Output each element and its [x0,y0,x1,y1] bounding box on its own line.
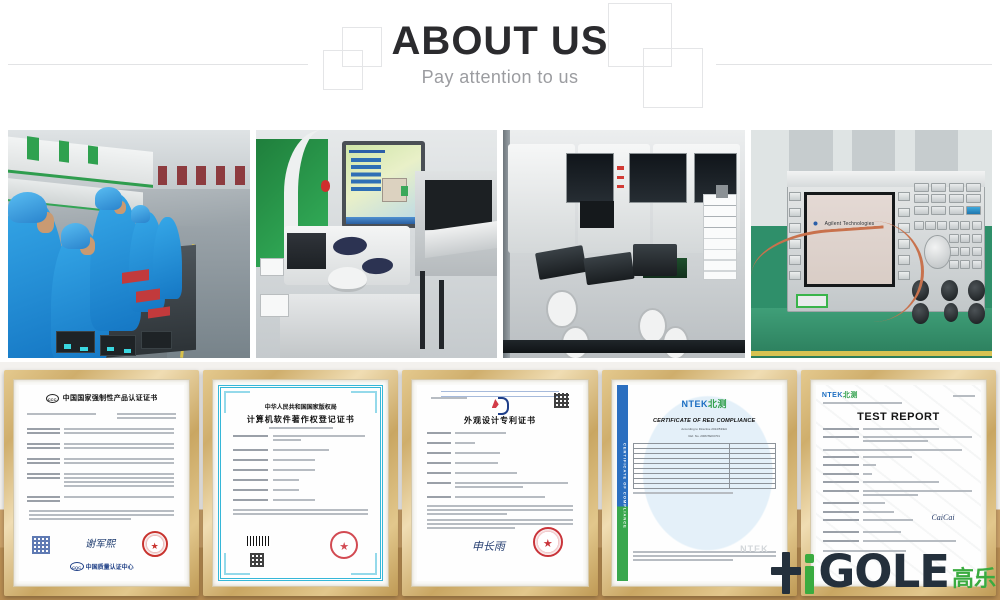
cnipa-logo-icon [492,397,508,411]
ntek-directive: According to Directive 2014/53/EU [633,427,776,431]
photo-assembly-line[interactable]: Workers in blue anti-static suits and ca… [8,130,250,358]
photo-smt-inspection-machine[interactable]: SMT AOI inspection machine with operator… [256,130,498,358]
ntek-certificate-title: CERTIFICATE OF RED COMPLIANCE [633,418,776,424]
patent-signature: 申长雨 [472,538,505,554]
page-title: ABOUT US [0,20,1000,62]
cqc-mark-icon: CQC [70,562,84,571]
factory-photo-gallery: Workers in blue anti-static suits and ca… [8,130,992,358]
qr-code-icon [554,393,569,408]
certificate-frame-ntek-red-compliance[interactable]: CERTIFICATE OF COMPLIANCE NTEK北测 CERTIFI… [602,370,797,596]
red-seal-icon [142,531,168,557]
page-header: ABOUT US Pay attention to us [0,0,1000,118]
qr-code-icon [32,536,50,554]
higole-h-mark-icon [771,552,801,594]
certificate-frame-software-copyright[interactable]: 中华人民共和国国家版权局 计算机软件著作权登记证书 [203,370,398,596]
ccc-badge-icon: CCC [46,394,59,403]
standards-table [633,443,776,489]
report-signature: CaiCai [931,513,954,522]
ntek-watermark: NTEK [740,544,769,554]
ccc-title: 中国国家强制性产品认证证书 [63,393,158,403]
higole-logo: GOLE 高乐 [771,549,996,594]
barcode-icon [247,536,271,546]
copyright-title: 计算机软件著作权登记证书 [221,414,380,425]
page-subtitle: Pay attention to us [0,67,1000,88]
higole-i-letter-icon [802,552,818,594]
certificate-sidebar-label: CERTIFICATE OF COMPLIANCE [617,385,628,581]
photo-pick-and-place-machines[interactable]: Row of SMT pick-and-place machines with … [503,130,745,358]
certificate-frame-ccc[interactable]: CCC 中国国家强制性产品认证证书 谢军熙 [4,370,199,596]
certificate-frame-design-patent[interactable]: 外观设计专利证书 申长雨 [402,370,597,596]
ntek-brand: NTEK [681,399,708,409]
ntek-brand-cn: 北测 [708,399,727,409]
higole-chinese-name: 高乐 [952,569,996,591]
ntek-logo: NTEK北测 [633,397,776,410]
photo-agilent-test-equipment[interactable]: Agilent Technologies [751,130,993,358]
page-title-block: ABOUT US Pay attention to us [0,20,1000,88]
ccc-issuer: 中国质量认证中心 [86,565,134,571]
qr-code-icon [250,553,264,567]
patent-title: 外观设计专利证书 [417,415,582,426]
red-seal-icon [533,527,563,557]
ntek-ref-no: Ref. No. 200NTEK0701 [633,434,776,438]
higole-wordmark: GOLE [818,549,949,594]
ccc-signature: 谢军熙 [85,535,115,550]
red-seal-icon [330,531,358,559]
